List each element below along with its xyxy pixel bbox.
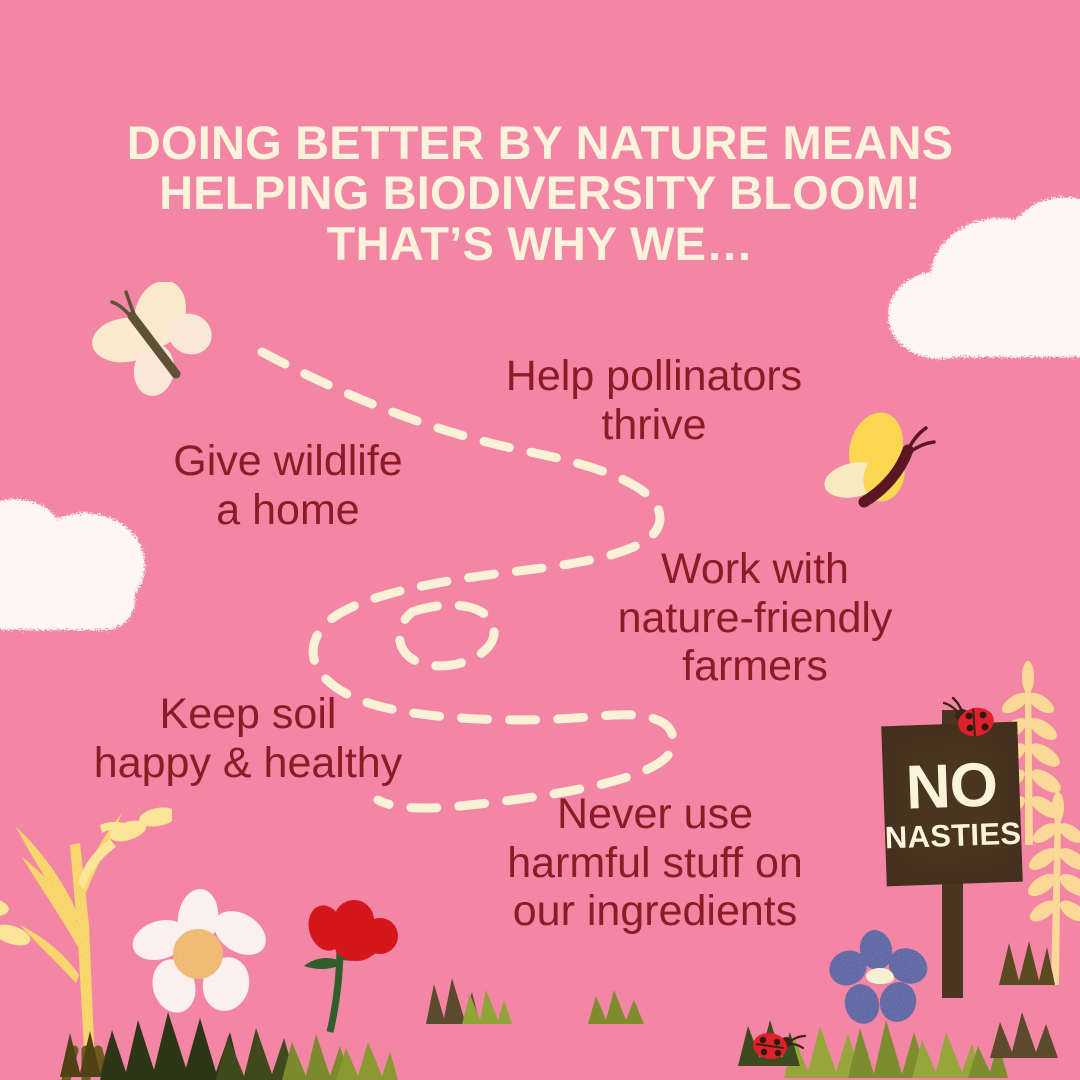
statement-never-use-harmful-stuff: Never use harmful stuff on our ingredien… [450,790,860,936]
grass-tuft-icon [424,968,534,1026]
sign-line-nasties: NASTIES [884,818,1021,852]
statement-work-with-farmers: Work with nature-friendly farmers [570,545,940,691]
headline-line-3: THAT’S WHY WE… [0,219,1080,269]
poster-canvas: DOING BETTER BY NATURE MEANS HELPING BIO… [0,0,1080,1080]
grass-tuft-icon [988,988,1068,1060]
statement-keep-soil-happy: Keep soil happy & healthy [48,690,448,787]
grass-tuft-icon [782,988,1012,1080]
ladybird-on-ground-icon [734,996,814,1068]
grass-tuft-icon [96,972,426,1080]
statement-help-pollinators: Help pollinators thrive [444,352,864,449]
butterfly-yellow-icon [822,412,947,524]
statement-give-wildlife-a-home: Give wildlife a home [108,437,468,534]
page-title: DOING BETTER BY NATURE MEANS HELPING BIO… [0,118,1080,269]
butterfly-cream-icon [88,282,218,397]
headline-line-1: DOING BETTER BY NATURE MEANS [0,118,1080,168]
sign-line-no: NO [905,756,998,818]
no-nasties-sign: NO NASTIES [884,700,1044,1000]
ladybird-on-sign-icon [942,696,1002,742]
grass-tuft-icon [586,978,656,1026]
headline-line-2: HELPING BIODIVERSITY BLOOM! [0,168,1080,218]
sign-board: NO NASTIES [881,722,1023,887]
sign-text: NO NASTIES [881,722,1023,887]
